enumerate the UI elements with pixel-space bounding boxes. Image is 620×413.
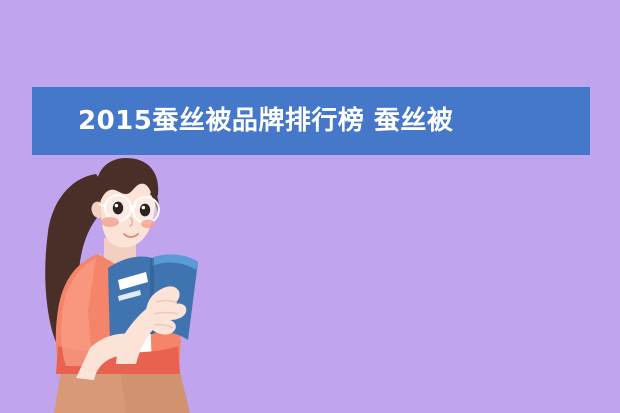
right-eye-highlight-icon bbox=[142, 206, 145, 209]
right-blush-icon bbox=[141, 220, 155, 229]
woman-reading-illustration bbox=[0, 150, 300, 413]
right-eye-icon bbox=[140, 204, 150, 217]
left-blush-icon bbox=[101, 217, 119, 227]
left-eye-icon bbox=[113, 202, 123, 215]
page-title: 2015蚕丝被品牌排行榜 蚕丝被 bbox=[78, 108, 453, 134]
page-root: 2015蚕丝被品牌排行榜 蚕丝被 bbox=[0, 0, 620, 413]
title-banner: 2015蚕丝被品牌排行榜 蚕丝被 bbox=[32, 87, 590, 155]
left-eye-highlight-icon bbox=[115, 204, 118, 207]
illustration-svg bbox=[0, 150, 300, 413]
